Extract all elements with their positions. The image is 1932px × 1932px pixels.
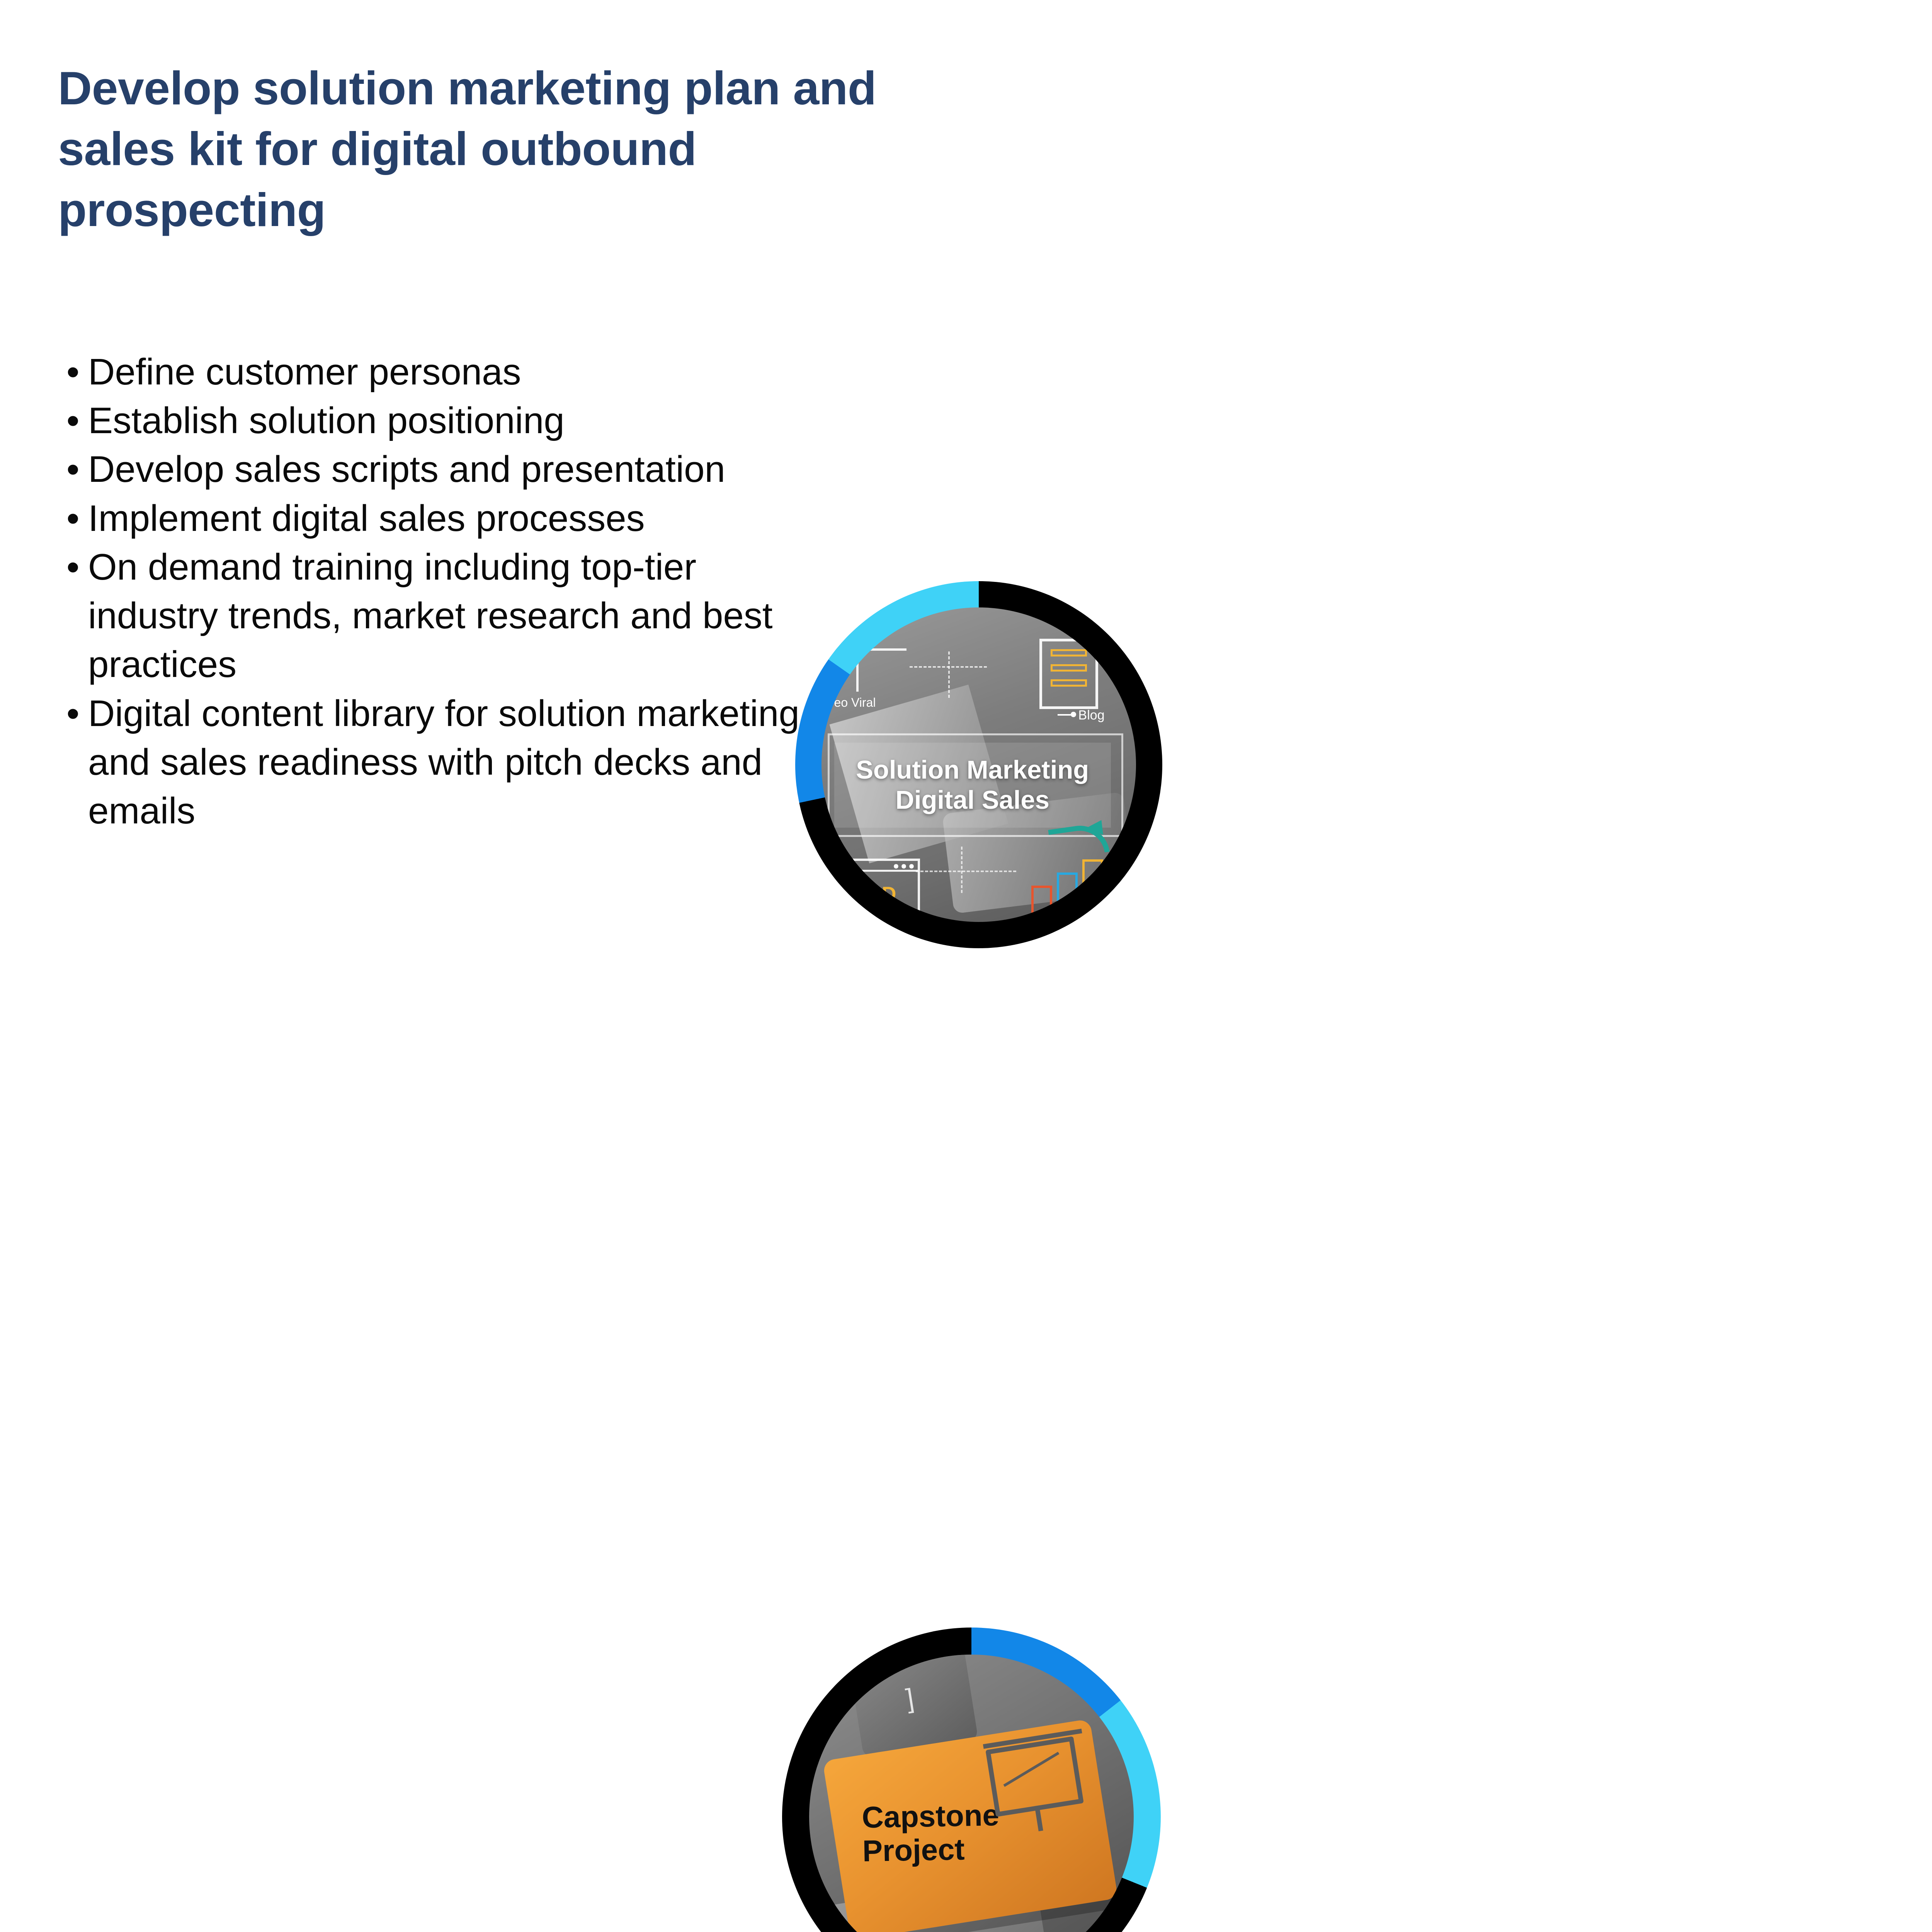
circle-title-band: Solution Marketing Digital Sales xyxy=(834,743,1111,828)
list-item: Establish solution positioning xyxy=(64,396,821,445)
browser-window-icon: AD xyxy=(847,859,920,913)
list-item: Implement digital sales processes xyxy=(64,494,821,543)
list-item: On demand training including top-tier in… xyxy=(64,543,821,689)
circle-photo-solution-marketing: Blog eo Viral Solution Marketing Digital… xyxy=(821,607,1136,922)
quadrant-content-marketing: Develop end-to-end digital content and s… xyxy=(1221,0,1932,1043)
list-item: Develop sales scripts and presentation xyxy=(64,445,821,494)
document-icon xyxy=(1039,639,1098,709)
bullet-list-solution-marketing: Define customer personas Establish solut… xyxy=(64,348,821,835)
list-item: Define customer personas xyxy=(64,348,821,396)
overlay-crosshair-icon-2 xyxy=(916,847,1016,893)
capstone-key-label: Capstone Project xyxy=(862,1798,1000,1868)
circle-title-line2: Digital Sales xyxy=(895,785,1049,815)
bar-chart-icon xyxy=(1031,858,1120,916)
ad-label: AD xyxy=(867,883,896,906)
key-label-bracket: ] xyxy=(904,1683,916,1714)
capstone-line1: Capstone xyxy=(862,1798,1000,1835)
slide-canvas: Develop solution marketing plan and sale… xyxy=(0,0,1932,1932)
page-title-solution-marketing: Develop solution marketing plan and sale… xyxy=(58,58,908,240)
presentation-chart-icon xyxy=(985,1736,1084,1817)
overlay-frame-icon xyxy=(856,648,906,692)
media-circle-solution-marketing: Blog eo Viral Solution Marketing Digital… xyxy=(795,581,1162,948)
list-item: Digital content library for solution mar… xyxy=(64,689,821,836)
blog-label: Blog xyxy=(1078,708,1105,723)
video-viral-label: eo Viral xyxy=(834,696,876,710)
quadrant-multi-channel-campaign: Develop multi-channel digital marketing … xyxy=(1221,1043,1932,1932)
capstone-line2: Project xyxy=(862,1832,1000,1869)
overlay-crosshair-icon xyxy=(910,651,987,698)
circle-title-line1: Solution Marketing xyxy=(856,755,1089,785)
